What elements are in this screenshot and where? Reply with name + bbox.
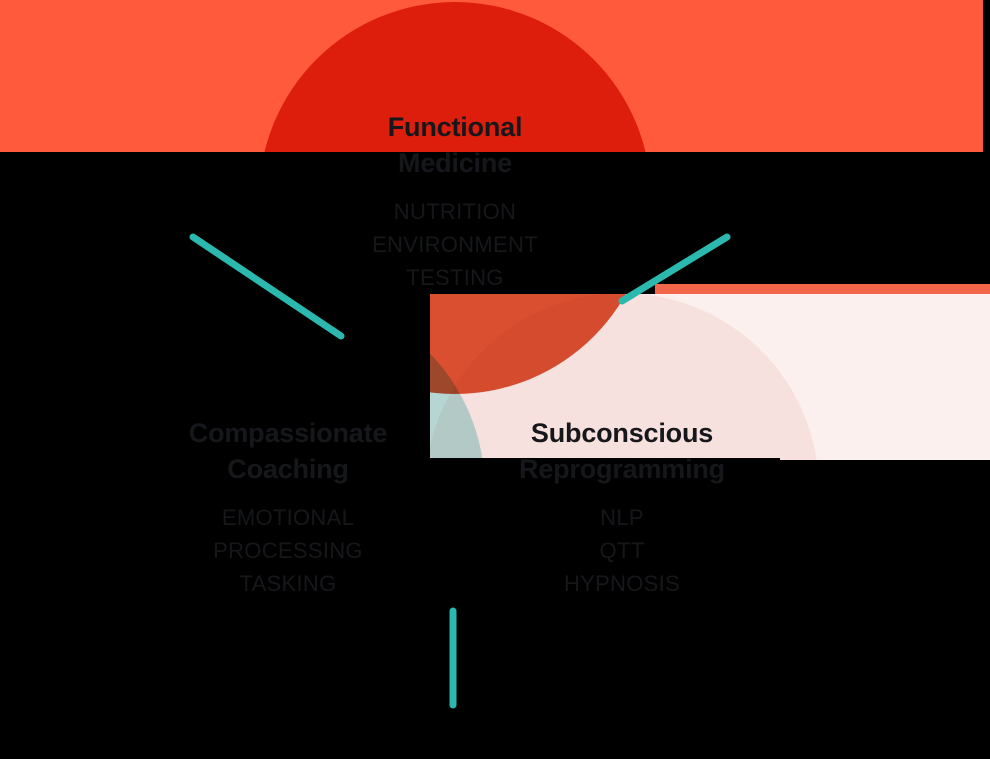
venn-circles-group bbox=[0, 0, 990, 759]
venn-circle-subconscious-reprogramming[interactable] bbox=[425, 293, 819, 687]
venn-diagram-canvas: Functional Medicine NUTRITION ENVIRONMEN… bbox=[0, 0, 990, 759]
venn-circle-set bbox=[91, 2, 819, 687]
